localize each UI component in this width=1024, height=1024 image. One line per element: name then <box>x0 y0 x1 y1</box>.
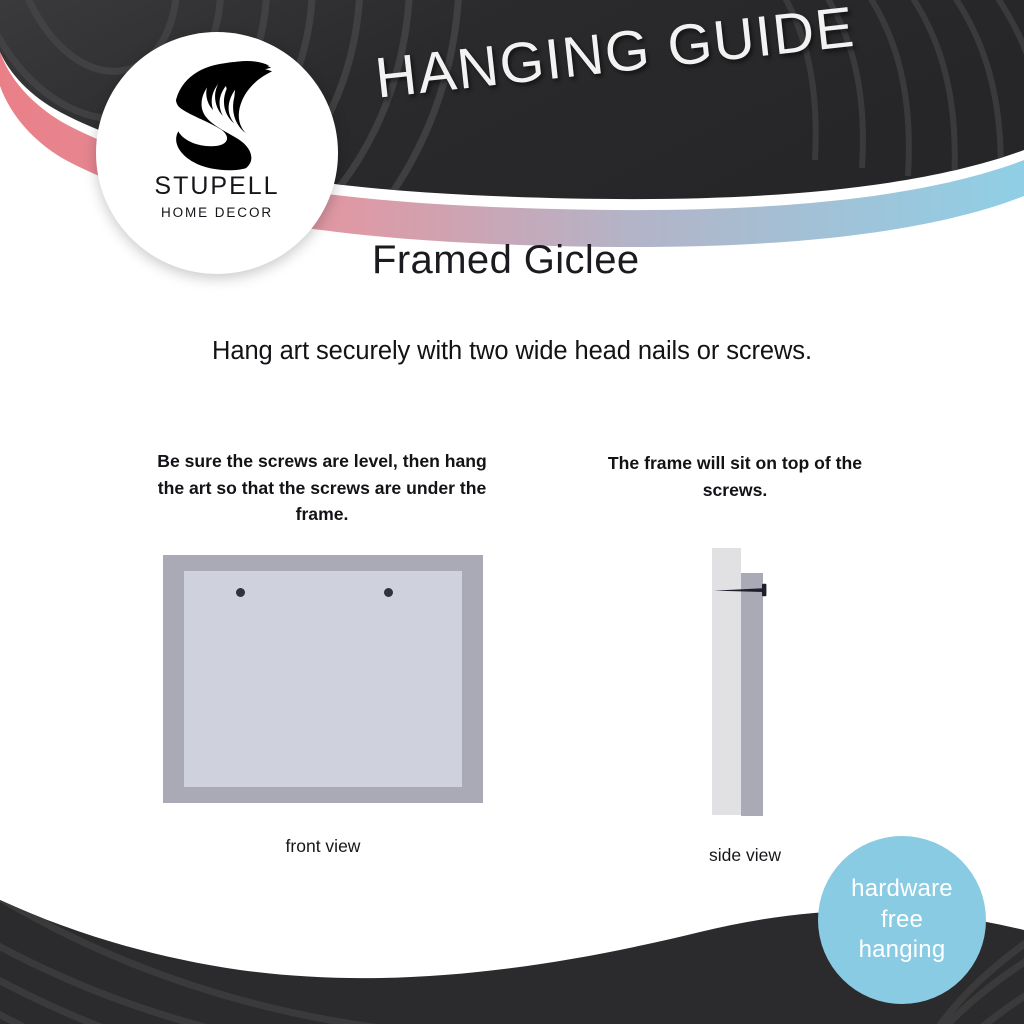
side-view-label: side view <box>640 845 850 866</box>
brand-logo-badge: STUPELL HOME DECOR <box>96 32 338 274</box>
badge-line-3: hanging <box>859 935 946 966</box>
brand-name: STUPELL <box>154 174 279 199</box>
badge-line-2: free <box>881 905 923 936</box>
brand-tagline: HOME DECOR <box>161 206 273 220</box>
side-view-caption: The frame will sit on top of the screws. <box>580 450 890 503</box>
side-view-diagram <box>690 548 800 818</box>
stupell-swoosh-logo-icon <box>159 54 275 172</box>
hanging-guide-page: STUPELL HOME DECOR HANGING GUIDE Framed … <box>0 0 1024 1024</box>
product-type-heading: Framed Giclee <box>372 238 640 283</box>
badge-line-1: hardware <box>851 874 953 905</box>
page-title: HANGING GUIDE <box>372 0 896 112</box>
hardware-free-hanging-badge: hardware free hanging <box>818 836 986 1004</box>
front-view-caption: Be sure the screws are level, then hang … <box>147 448 497 528</box>
front-view-diagram <box>163 555 483 803</box>
nail-icon <box>712 583 772 597</box>
front-view-mat <box>184 571 462 787</box>
screw-dot-right <box>384 588 393 597</box>
front-view-label: front view <box>163 836 483 857</box>
screw-dot-left <box>236 588 245 597</box>
side-view-frame <box>741 573 763 816</box>
main-instruction-text: Hang art securely with two wide head nai… <box>0 337 1024 366</box>
